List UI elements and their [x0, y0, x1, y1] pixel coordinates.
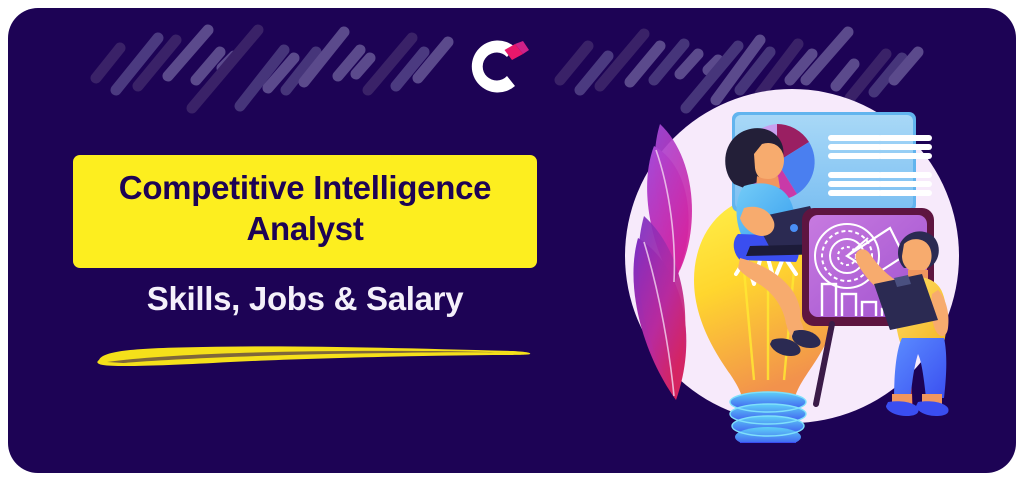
man-face [902, 239, 932, 272]
bulb-screw-base [730, 392, 806, 443]
man-shoe-2 [886, 401, 919, 416]
brand-logo[interactable] [463, 30, 533, 100]
leaf-group [633, 124, 692, 400]
headline-line-2: Analyst [246, 210, 363, 247]
banner-card: Competitive Intelligence Analyst Skills,… [8, 8, 1016, 473]
headline-box: Competitive Intelligence Analyst [73, 155, 537, 268]
analytics-illustration [604, 88, 984, 443]
brush-stroke-underline [93, 336, 533, 372]
headline-line-1: Competitive Intelligence [119, 169, 491, 206]
man-jeans [894, 338, 946, 400]
man-shoe-1 [916, 401, 949, 416]
underline-stroke-main [97, 346, 530, 366]
banner-root: Competitive Intelligence Analyst Skills,… [0, 0, 1024, 481]
page-title: Competitive Intelligence Analyst [119, 168, 491, 250]
subheadline: Skills, Jobs & Salary [73, 280, 537, 318]
